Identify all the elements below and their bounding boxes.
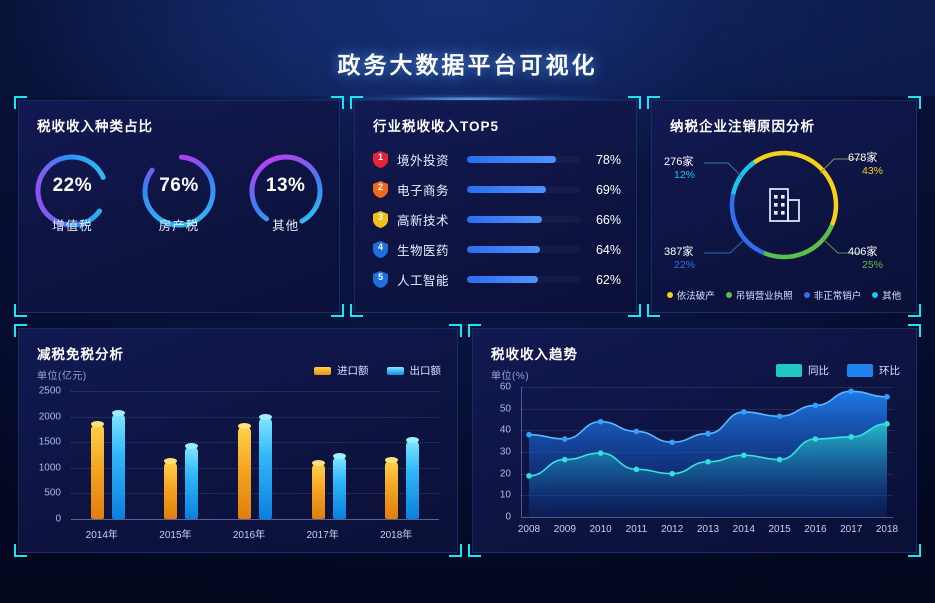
- rank-bar-track: [467, 216, 581, 223]
- legend-swatch-mom: [847, 364, 873, 377]
- bar-cap: [385, 457, 398, 463]
- rank-bar-fill: [467, 156, 556, 163]
- rank-badge-icon: 1: [373, 151, 388, 168]
- rank-row[interactable]: 3高新技术66%: [373, 205, 621, 234]
- gauge-label: 增值税: [26, 215, 118, 234]
- rank-percent: 64%: [587, 243, 621, 257]
- donut-label-1: 406家 25%: [848, 243, 883, 271]
- rank-percent: 66%: [587, 213, 621, 227]
- x-axis-tick: 2015年: [159, 526, 191, 541]
- data-point: [848, 434, 854, 440]
- corner-bracket-tl: [468, 324, 481, 337]
- corner-bracket-bl: [350, 304, 363, 317]
- x-axis-tick: 2009: [554, 524, 576, 535]
- y-axis-tick: 50: [500, 403, 511, 414]
- gridline: [71, 468, 439, 469]
- data-point: [741, 409, 747, 415]
- donut-pct: 12%: [674, 169, 695, 181]
- rank-bar-track: [467, 186, 581, 193]
- bar-export[interactable]: [185, 446, 198, 519]
- legend-swatch-export: [387, 367, 404, 375]
- bar-chart-plot: 050010001500200025002014年2015年2016年2017年…: [71, 391, 439, 519]
- corner-bracket-tr: [908, 96, 921, 109]
- bar-cap: [259, 414, 272, 420]
- y-axis-tick: 10: [500, 490, 511, 501]
- corner-bracket-br: [449, 544, 462, 557]
- gauge-item[interactable]: 13% 其他: [240, 145, 332, 278]
- x-axis-tick: 2018: [876, 524, 898, 535]
- y-axis-tick: 2500: [39, 386, 61, 397]
- y-axis-tick: 30: [500, 447, 511, 458]
- data-point: [669, 471, 675, 477]
- gauge-value: 13%: [240, 175, 332, 197]
- data-point: [598, 419, 604, 425]
- x-axis-tick: 2012: [661, 524, 683, 535]
- donut-label-2: 387家 22%: [664, 243, 695, 271]
- donut-chart[interactable]: 678家 43% 406家 25% 387家 22% 276家 12%: [652, 135, 916, 275]
- legend-swatch-yoy: [776, 364, 802, 377]
- rank-name: 人工智能: [397, 270, 461, 289]
- rank-bar-track: [467, 156, 581, 163]
- donut-pct: 22%: [674, 259, 695, 271]
- rank-bar-fill: [467, 216, 542, 223]
- legend-item-mom[interactable]: 环比: [847, 363, 900, 378]
- rank-bar-track: [467, 246, 581, 253]
- corner-bracket-br: [908, 544, 921, 557]
- bar-import[interactable]: [238, 426, 251, 519]
- legend-dot: [667, 292, 673, 298]
- data-point: [741, 452, 747, 458]
- donut-legend-item[interactable]: 依法破产: [667, 288, 715, 302]
- bar-cap: [238, 423, 251, 429]
- donut-count: 387家: [664, 243, 695, 259]
- bar-chart-legend[interactable]: 进口额 出口额: [314, 363, 441, 378]
- legend-label: 吊销营业执照: [736, 288, 793, 302]
- y-axis-tick: 2000: [39, 411, 61, 422]
- corner-bracket-br: [331, 304, 344, 317]
- legend-item-import[interactable]: 进口额: [314, 363, 369, 378]
- bar-export[interactable]: [406, 440, 419, 519]
- bar-cap: [333, 453, 346, 459]
- panel-title-tax-reduction: 减税免税分析: [37, 343, 124, 363]
- panel-tax-reduction: 减税免税分析 单位(亿元) 进口额 出口额 050010001500200025…: [18, 328, 458, 553]
- x-axis-tick: 2008: [518, 524, 540, 535]
- legend-label-yoy: 同比: [808, 363, 829, 378]
- rank-name: 电子商务: [397, 180, 461, 199]
- x-axis-tick: 2016年: [233, 526, 265, 541]
- x-axis-line: [521, 517, 893, 518]
- rank-number: 1: [373, 152, 388, 162]
- x-axis-tick: 2014年: [86, 526, 118, 541]
- gridline: [71, 493, 439, 494]
- donut-pct: 43%: [862, 165, 883, 177]
- bar-cap: [185, 443, 198, 449]
- legend-label: 非正常销户: [814, 288, 862, 302]
- legend-label: 依法破产: [677, 288, 715, 302]
- data-point: [777, 413, 783, 419]
- corner-bracket-br: [628, 304, 641, 317]
- panel-title-tax-share: 税收收入种类占比: [37, 115, 153, 135]
- data-point: [884, 421, 890, 427]
- data-point: [562, 457, 568, 463]
- gauge-group: 22% 增值税 76% 房产税: [19, 145, 339, 278]
- panel-tax-share: 税收收入种类占比 22% 增值税: [18, 100, 340, 313]
- corner-bracket-tl: [350, 96, 363, 109]
- y-axis-tick: 1000: [39, 462, 61, 473]
- donut-pct: 25%: [862, 259, 883, 271]
- donut-legend-item[interactable]: 吊销营业执照: [726, 288, 793, 302]
- bar-cap: [112, 410, 125, 416]
- bar-cap: [91, 421, 104, 427]
- gauge-label: 房产税: [133, 215, 225, 234]
- page-title: 政务大数据平台可视化: [0, 46, 935, 80]
- bar-export[interactable]: [112, 413, 125, 519]
- y-axis-tick: 500: [44, 488, 61, 499]
- corner-bracket-br: [908, 304, 921, 317]
- rank-percent: 78%: [587, 153, 621, 167]
- rank-name: 高新技术: [397, 210, 461, 229]
- corner-bracket-bl: [14, 544, 27, 557]
- donut-count: 406家: [848, 243, 883, 259]
- corner-bracket-tl: [14, 324, 27, 337]
- x-axis-line: [71, 519, 439, 520]
- rank-bar-fill: [467, 186, 546, 193]
- data-point: [562, 436, 568, 442]
- y-axis-tick: 0: [55, 514, 61, 525]
- bar-import[interactable]: [385, 460, 398, 519]
- data-point: [634, 467, 640, 473]
- y-axis-tick: 40: [500, 425, 511, 436]
- gridline: [71, 442, 439, 443]
- bar-export[interactable]: [333, 456, 346, 519]
- x-axis-tick: 2013: [697, 524, 719, 535]
- rank-badge-icon: 4: [373, 241, 388, 258]
- rank-badge-icon: 5: [373, 271, 388, 288]
- data-point: [634, 429, 640, 435]
- legend-label-mom: 环比: [879, 363, 900, 378]
- y-axis-tick: 0: [505, 512, 511, 523]
- legend-item-export[interactable]: 出口额: [387, 363, 442, 378]
- data-point: [669, 439, 675, 445]
- corner-bracket-tl: [647, 96, 660, 109]
- rank-row[interactable]: 2电子商务69%: [373, 175, 621, 204]
- data-point: [884, 394, 890, 400]
- data-point: [598, 450, 604, 456]
- bar-cap: [312, 460, 325, 466]
- rank-number: 4: [373, 242, 388, 252]
- corner-bracket-bl: [14, 304, 27, 317]
- x-axis-tick: 2016: [804, 524, 826, 535]
- legend-swatch-import: [314, 367, 331, 375]
- x-axis-tick: 2018年: [380, 526, 412, 541]
- donut-label-0: 678家 43%: [848, 149, 883, 177]
- legend-label-import: 进口额: [337, 363, 369, 378]
- rank-percent: 62%: [587, 273, 621, 287]
- rank-bar-fill: [467, 276, 538, 283]
- panel-title-cancel-reason: 纳税企业注销原因分析: [670, 115, 815, 135]
- panel-title-tax-trend: 税收收入趋势: [491, 343, 578, 363]
- y-axis-tick: 1500: [39, 437, 61, 448]
- y-axis-tick: 20: [500, 468, 511, 479]
- data-point: [526, 473, 532, 479]
- gauge-value: 76%: [133, 175, 225, 197]
- donut-label-3: 276家 12%: [664, 153, 695, 181]
- corner-bracket-tr: [449, 324, 462, 337]
- legend-label: 其他: [882, 288, 901, 302]
- bar-import[interactable]: [312, 463, 325, 519]
- y-axis-tick: 60: [500, 382, 511, 393]
- bar-chart-unit: 单位(亿元): [37, 367, 87, 382]
- rank-bar-fill: [467, 246, 540, 253]
- bar-export[interactable]: [259, 417, 272, 519]
- rank-percent: 69%: [587, 183, 621, 197]
- corner-bracket-tr: [628, 96, 641, 109]
- rank-bar-track: [467, 276, 581, 283]
- corner-bracket-bl: [468, 544, 481, 557]
- bar-import[interactable]: [164, 461, 177, 519]
- rank-badge-icon: 3: [373, 211, 388, 228]
- rank-name: 生物医药: [397, 240, 461, 259]
- data-point: [777, 457, 783, 463]
- legend-label-export: 出口额: [410, 363, 442, 378]
- dashboard-root: 政务大数据平台可视化 税收收入种类占比 22% 增值税: [0, 0, 935, 603]
- gauge-item[interactable]: 76% 房产税: [133, 145, 225, 278]
- legend-dot: [872, 292, 878, 298]
- panel-tax-trend: 税收收入趋势 单位(%) 同比 环比 010203040506020082009…: [472, 328, 917, 553]
- gauge-label: 其他: [240, 215, 332, 234]
- rank-number: 5: [373, 272, 388, 282]
- legend-item-yoy[interactable]: 同比: [776, 363, 829, 378]
- area-chart-plot: 0102030405060200820092010201120122013201…: [521, 387, 893, 517]
- rank-name: 境外投资: [397, 150, 461, 169]
- donut-svg: [698, 135, 870, 275]
- donut-legend-item[interactable]: 非正常销户: [804, 288, 862, 302]
- data-point: [705, 459, 711, 465]
- rank-badge-icon: 2: [373, 181, 388, 198]
- area-chart-legend[interactable]: 同比 环比: [776, 363, 900, 378]
- data-point: [848, 389, 854, 395]
- corner-bracket-bl: [647, 304, 660, 317]
- panel-industry-top5: 行业税收收入TOP5 1境外投资78%2电子商务69%3高新技术66%4生物医药…: [354, 100, 637, 313]
- gauge-value: 22%: [26, 175, 118, 197]
- area-chart-unit: 单位(%): [491, 367, 529, 382]
- x-axis-tick: 2014: [733, 524, 755, 535]
- x-axis-tick: 2017年: [306, 526, 338, 541]
- rank-row[interactable]: 1境外投资78%: [373, 145, 621, 174]
- x-axis-tick: 2017: [840, 524, 862, 535]
- corner-bracket-tr: [331, 96, 344, 109]
- x-axis-tick: 2015: [768, 524, 790, 535]
- panel-title-industry-top5: 行业税收收入TOP5: [373, 115, 499, 135]
- bar-cap: [164, 458, 177, 464]
- gridline: [71, 391, 439, 392]
- corner-bracket-tl: [14, 96, 27, 109]
- donut-count: 276家: [664, 153, 695, 169]
- rank-row[interactable]: 5人工智能62%: [373, 265, 621, 294]
- corner-bracket-tr: [908, 324, 921, 337]
- legend-dot: [726, 292, 732, 298]
- rank-number: 3: [373, 212, 388, 222]
- data-point: [705, 431, 711, 437]
- donut-legend-item[interactable]: 其他: [872, 288, 901, 302]
- building-icon: [770, 189, 799, 221]
- rank-list: 1境外投资78%2电子商务69%3高新技术66%4生物医药64%5人工智能62%: [373, 145, 621, 295]
- x-axis-tick: 2010: [589, 524, 611, 535]
- panel-cancel-reason: 纳税企业注销原因分析: [651, 100, 917, 313]
- data-point: [813, 403, 819, 409]
- donut-legend: 依法破产吊销营业执照非正常销户其他: [652, 288, 916, 302]
- bar-cap: [406, 437, 419, 443]
- gauge-item[interactable]: 22% 增值税: [26, 145, 118, 278]
- legend-dot: [804, 292, 810, 298]
- area-chart-svg: [521, 387, 893, 517]
- donut-count: 678家: [848, 149, 883, 165]
- data-point: [526, 432, 532, 438]
- rank-number: 2: [373, 182, 388, 192]
- rank-row[interactable]: 4生物医药64%: [373, 235, 621, 264]
- x-axis-tick: 2011: [626, 524, 648, 535]
- data-point: [813, 436, 819, 442]
- bar-import[interactable]: [91, 424, 104, 519]
- gridline: [71, 417, 439, 418]
